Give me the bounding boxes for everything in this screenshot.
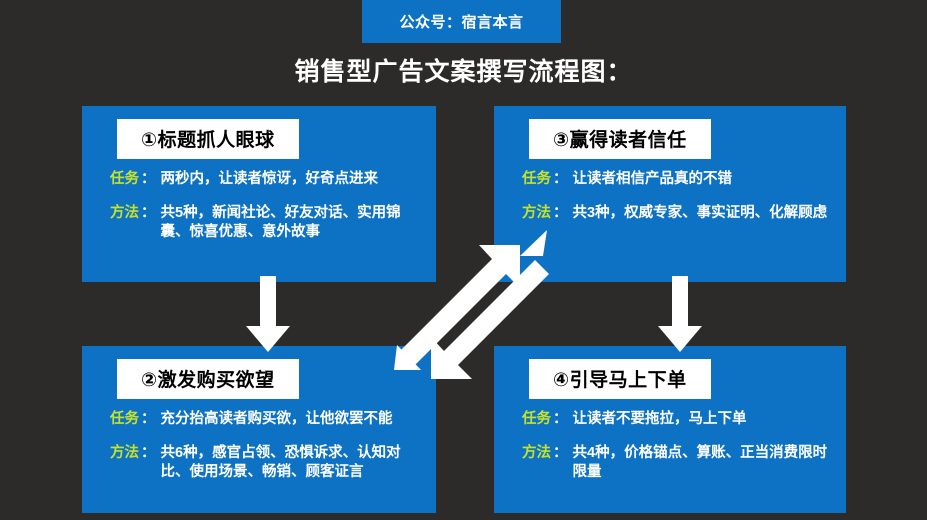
step-4-method-value: 共4种，价格锚点、算账、正当消费限时限量 [573, 444, 833, 483]
step-1-rows: 任务 ： 两秒内，让读者惊讶，好奇点进来 方法 ： 共5种，新闻社论、好友对话、… [110, 170, 422, 257]
arrow-step1-to-step2-icon [233, 276, 303, 352]
account-banner: 公众号：宿言本言 [362, 0, 561, 43]
step-2-method-row: 方法 ： 共6种，感官占领、恐惧诉求、认知对比、使用场景、畅销、顾客证言 [110, 444, 422, 483]
page-title: 销售型广告文案撰写流程图： [0, 52, 927, 88]
step-box-1: ①标题抓人眼球 任务 ： 两秒内，让读者惊讶，好奇点进来 方法 ： 共5种，新闻… [82, 106, 436, 282]
step-box-4: ④引导马上下单 任务 ： 让读者不要拖拉，马上下单 方法 ： 共4种，价格锚点、… [494, 346, 846, 513]
task-colon: ： [553, 410, 573, 430]
step-4-task-value: 让读者不要拖拉，马上下单 [573, 410, 833, 430]
method-label: 方法 [110, 204, 141, 224]
step-4-title: ④引导马上下单 [529, 359, 711, 399]
account-banner-text: 公众号：宿言本言 [399, 11, 523, 32]
step-1-method-row: 方法 ： 共5种，新闻社论、好友对话、实用锦囊、惊喜优惠、意外故事 [110, 204, 422, 243]
step-3-rows: 任务 ： 让读者相信产品真的不错 方法 ： 共3种，权威专家、事实证明、化解顾虑 [522, 170, 832, 237]
step-1-task-value: 两秒内，让读者惊讶，好奇点进来 [161, 170, 423, 190]
task-label: 任务 [522, 410, 553, 430]
method-colon: ： [553, 204, 573, 224]
method-label: 方法 [522, 204, 553, 224]
task-colon: ： [141, 410, 161, 430]
task-colon: ： [553, 170, 573, 190]
task-label: 任务 [110, 170, 141, 190]
method-colon: ： [553, 444, 573, 464]
step-2-method-value: 共6种，感官占领、恐惧诉求、认知对比、使用场景、畅销、顾客证言 [161, 444, 423, 483]
step-2-task-row: 任务 ： 充分抬高读者购买欲，让他欲罢不能 [110, 410, 422, 430]
step-3-task-value: 让读者相信产品真的不错 [573, 170, 833, 190]
method-label: 方法 [522, 444, 553, 464]
step-3-title: ③赢得读者信任 [529, 119, 711, 159]
step-3-task-row: 任务 ： 让读者相信产品真的不错 [522, 170, 832, 190]
arrow-step3-to-step4-icon [645, 276, 715, 352]
method-label: 方法 [110, 444, 141, 464]
step-1-method-value: 共5种，新闻社论、好友对话、实用锦囊、惊喜优惠、意外故事 [161, 204, 423, 243]
step-4-task-row: 任务 ： 让读者不要拖拉，马上下单 [522, 410, 832, 430]
step-3-method-value: 共3种，权威专家、事实证明、化解顾虑 [573, 204, 833, 224]
method-colon: ： [141, 444, 161, 464]
step-4-rows: 任务 ： 让读者不要拖拉，马上下单 方法 ： 共4种，价格锚点、算账、正当消费限… [522, 410, 832, 497]
task-label: 任务 [110, 410, 141, 430]
step-4-method-row: 方法 ： 共4种，价格锚点、算账、正当消费限时限量 [522, 444, 832, 483]
step-box-2: ②激发购买欲望 任务 ： 充分抬高读者购买欲，让他欲罢不能 方法 ： 共6种，感… [82, 346, 436, 513]
step-2-rows: 任务 ： 充分抬高读者购买欲，让他欲罢不能 方法 ： 共6种，感官占领、恐惧诉求… [110, 410, 422, 497]
step-1-title: ①标题抓人眼球 [117, 119, 299, 159]
method-colon: ： [141, 204, 161, 224]
step-1-task-row: 任务 ： 两秒内，让读者惊讶，好奇点进来 [110, 170, 422, 190]
task-label: 任务 [522, 170, 553, 190]
step-2-task-value: 充分抬高读者购买欲，让他欲罢不能 [161, 410, 423, 430]
slide-canvas: 公众号：宿言本言 销售型广告文案撰写流程图： ①标题抓人眼球 任务 ： 两秒内，… [0, 0, 927, 520]
step-box-3: ③赢得读者信任 任务 ： 让读者相信产品真的不错 方法 ： 共3种，权威专家、事… [494, 106, 846, 282]
step-2-title: ②激发购买欲望 [117, 359, 299, 399]
step-3-method-row: 方法 ： 共3种，权威专家、事实证明、化解顾虑 [522, 204, 832, 224]
task-colon: ： [141, 170, 161, 190]
